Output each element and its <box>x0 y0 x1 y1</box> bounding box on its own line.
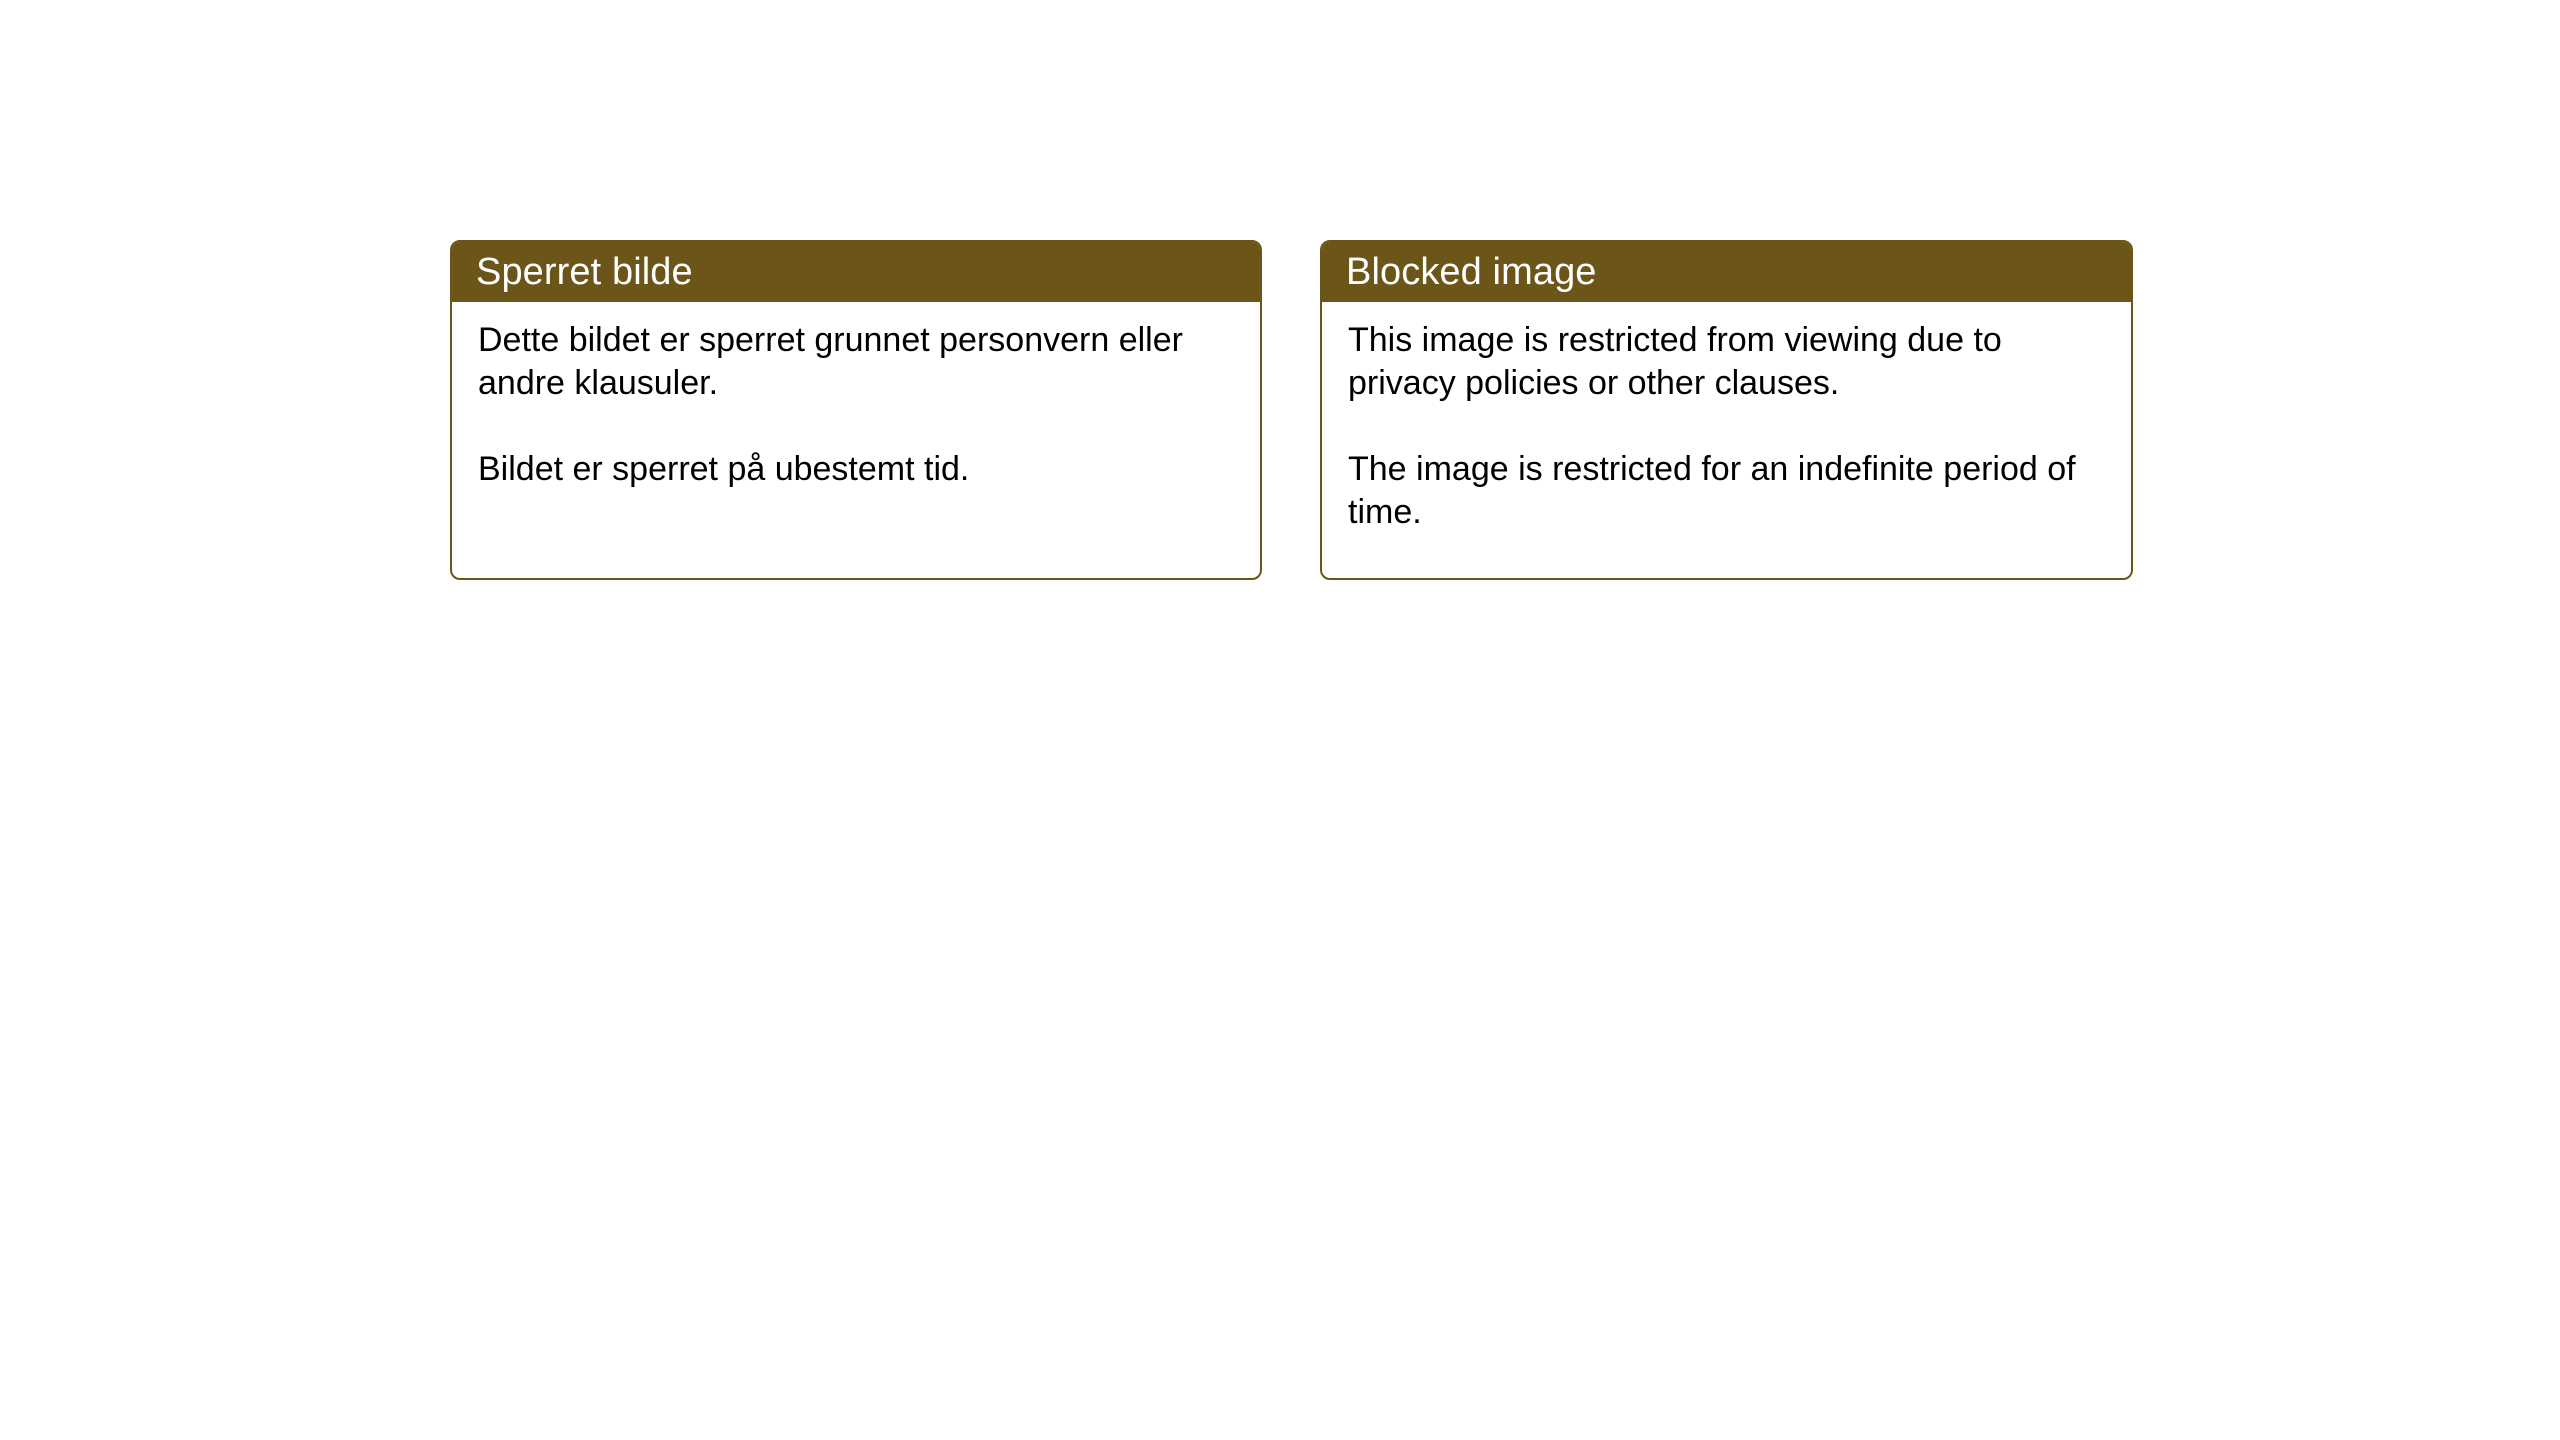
blocked-image-notice-norwegian: Sperret bilde Dette bildet er sperret gr… <box>450 240 1262 580</box>
panel-body-english: This image is restricted from viewing du… <box>1322 302 2131 534</box>
blocked-image-notice-english: Blocked image This image is restricted f… <box>1320 240 2133 580</box>
panel-header-english: Blocked image <box>1322 242 2131 302</box>
panel-paragraph-duration-english: The image is restricted for an indefinit… <box>1348 448 2105 534</box>
panel-paragraph-duration-norwegian: Bildet er sperret på ubestemt tid. <box>478 448 1234 491</box>
panel-body-norwegian: Dette bildet er sperret grunnet personve… <box>452 302 1260 491</box>
panel-title-norwegian: Sperret bilde <box>476 251 693 293</box>
page-canvas: Sperret bilde Dette bildet er sperret gr… <box>0 0 2560 1440</box>
panel-title-english: Blocked image <box>1346 251 1597 293</box>
panel-paragraph-reason-norwegian: Dette bildet er sperret grunnet personve… <box>478 319 1234 405</box>
panel-paragraph-reason-english: This image is restricted from viewing du… <box>1348 319 2105 405</box>
panel-header-norwegian: Sperret bilde <box>452 242 1260 302</box>
